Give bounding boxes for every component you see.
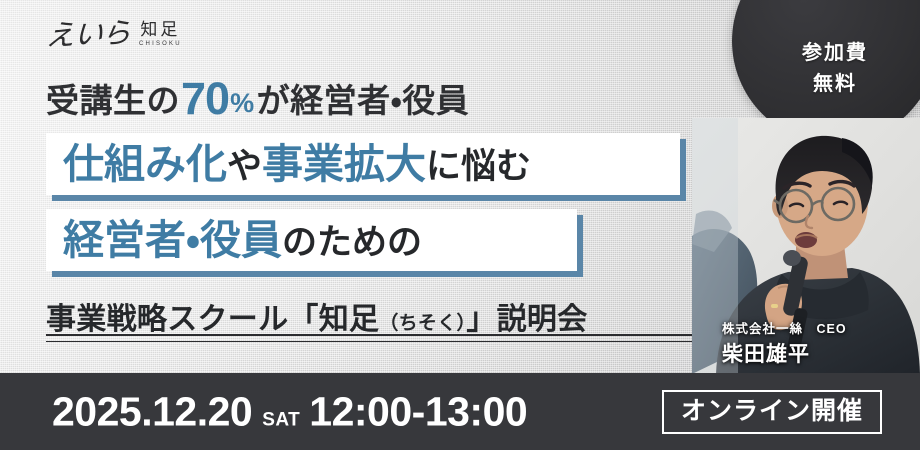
speaker-credit: 株式会社一絲 CEO 柴田雄平	[722, 318, 912, 368]
speaker-company-title: 株式会社一絲 CEO	[722, 318, 912, 337]
program-name-part-b: 」説明会	[466, 303, 587, 336]
emphasis-1-blue-b: 事業拡大	[262, 141, 426, 187]
speaker-photo: 株式会社一絲 CEO 柴田雄平	[692, 118, 920, 374]
speaker-name: 柴田雄平	[722, 338, 912, 368]
emphasis-box-2: 経営者・役員のための	[46, 209, 577, 271]
emphasis-2-dark: のための	[282, 223, 422, 262]
emphasis-2-blue: 経営者・役員	[63, 217, 282, 263]
emphasis-box-2-text: 経営者・役員のための	[63, 220, 422, 261]
seminar-banner: えいら 知足 CHISOKU 参加費 無料 受講生の 70 % が経営者・役員 …	[0, 0, 920, 450]
program-name-part-a: 事業戦略スクール「知足	[46, 303, 379, 336]
emphasis-box-1-text: 仕組み化や事業拡大に悩む	[63, 144, 531, 185]
emphasis-1-dark-a: や	[227, 147, 262, 186]
event-time-range: 12:00-13:00	[309, 388, 527, 435]
event-day-of-week: SAT	[252, 409, 309, 431]
brand-logo: えいら 知足 CHISOKU	[46, 20, 182, 49]
percent-sign: %	[230, 88, 257, 119]
brand-romanization: CHISOKU	[139, 41, 182, 47]
headline-line1-suffix: が経営者・役員	[257, 74, 470, 122]
badge-free-label: 無料	[813, 69, 857, 100]
event-details-bar: 2025.12.20 SAT 12:00-13:00 オンライン開催	[0, 373, 920, 450]
brand-wordmark: 知足 CHISOKU	[139, 21, 182, 49]
emphasis-1-dark-b: に悩む	[426, 147, 531, 186]
headline-line-1: 受講生の 70 % が経営者・役員	[46, 74, 469, 122]
headline-line-4: 事業戦略スクール「知足（ちそく）」説明会	[46, 294, 588, 338]
emphasis-box-1: 仕組み化や事業拡大に悩む	[46, 133, 680, 195]
event-datetime: 2025.12.20 SAT 12:00-13:00	[52, 388, 527, 435]
headline-double-underline	[46, 334, 700, 342]
event-date: 2025.12.20	[52, 388, 252, 435]
brand-kanji: 知足	[140, 21, 180, 38]
event-format-badge: オンライン開催	[662, 390, 882, 434]
badge-fee-label: 参加費	[802, 38, 868, 69]
statistic-percentage-value: 70	[180, 76, 230, 121]
brand-script-mark: えいら	[45, 19, 131, 51]
emphasis-1-blue-a: 仕組み化	[63, 141, 227, 187]
headline-line1-prefix: 受講生の	[46, 74, 180, 122]
program-name-ruby: （ちそく）	[379, 313, 466, 334]
